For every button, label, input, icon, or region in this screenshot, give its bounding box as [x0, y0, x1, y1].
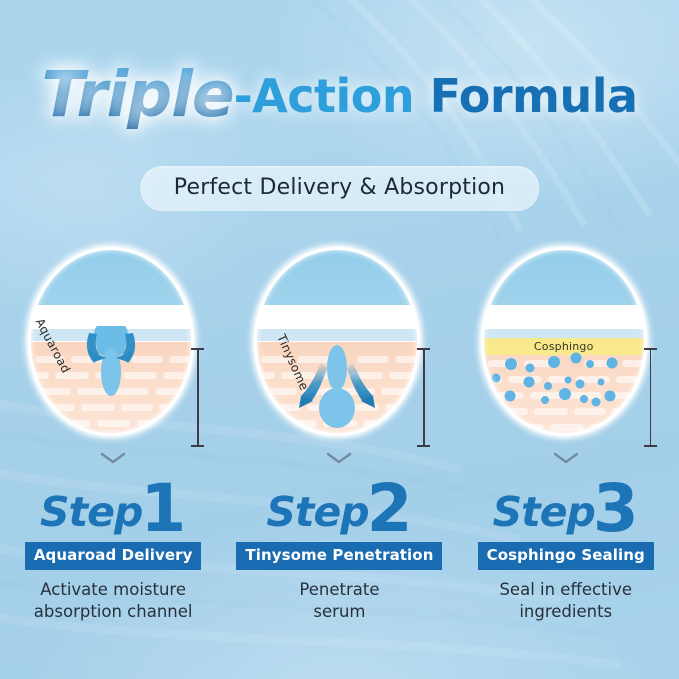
step-badge-label-2: Tinysome Penetration	[245, 546, 433, 564]
infographic-poster: Triple-Action Formula Perfect Delivery &…	[0, 0, 679, 679]
depth-indicator-2	[417, 348, 430, 447]
step-number-1: 1	[140, 483, 186, 536]
steps-row: Aquaroad Step 1 Aquaroad Delivery Activa…	[0, 248, 679, 623]
step-heading-2: Step 2	[266, 478, 412, 533]
step-word-3: Step	[493, 492, 595, 533]
title-part-triple: Triple	[41, 58, 233, 131]
step-column-2: Tinysome Step 2 Tinysome Penetration Pen…	[226, 248, 452, 623]
step-word-1: Step	[40, 492, 142, 533]
step-heading-1: Step 1	[40, 478, 186, 533]
step-description-1: Activate moisture absorption channel	[34, 579, 193, 623]
title-part-formula: Formula	[414, 69, 637, 123]
subtitle-pill: Perfect Delivery & Absorption	[140, 166, 539, 211]
title-part-action: -Action	[234, 69, 415, 123]
step-number-2: 2	[367, 483, 413, 536]
step-description-3: Seal in effective ingredients	[499, 579, 632, 623]
depth-indicator-1	[191, 348, 204, 447]
subtitle-text: Perfect Delivery & Absorption	[174, 175, 505, 200]
step-number-3: 3	[593, 483, 639, 536]
skin-cross-section-circle-3: Cosphingo	[484, 250, 644, 433]
depth-indicator-3	[644, 348, 657, 447]
step-description-2: Penetrate serum	[299, 579, 379, 623]
step-badge-label-1: Aquaroad Delivery	[34, 546, 193, 564]
step-badge-label-3: Cosphingo Sealing	[487, 546, 645, 564]
step-heading-3: Step 3	[493, 478, 639, 533]
diagram-3: Cosphingo	[468, 248, 664, 448]
step-column-3: Cosphingo	[453, 248, 679, 623]
page-title: Triple-Action Formula	[0, 58, 679, 131]
diagram-2: Tinysome	[241, 248, 437, 448]
skin-cross-section-circle-1: Aquaroad	[31, 250, 191, 433]
skin-cross-section-circle-2: Tinysome	[257, 250, 417, 433]
sealed-ingredient-dots	[484, 250, 644, 433]
step-column-1: Aquaroad Step 1 Aquaroad Delivery Activa…	[0, 248, 226, 623]
chevron-down-icon	[100, 452, 126, 464]
chevron-down-icon	[553, 452, 579, 464]
chevron-down-icon	[326, 452, 352, 464]
step-word-2: Step	[266, 492, 368, 533]
diagram-1: Aquaroad	[15, 248, 211, 448]
